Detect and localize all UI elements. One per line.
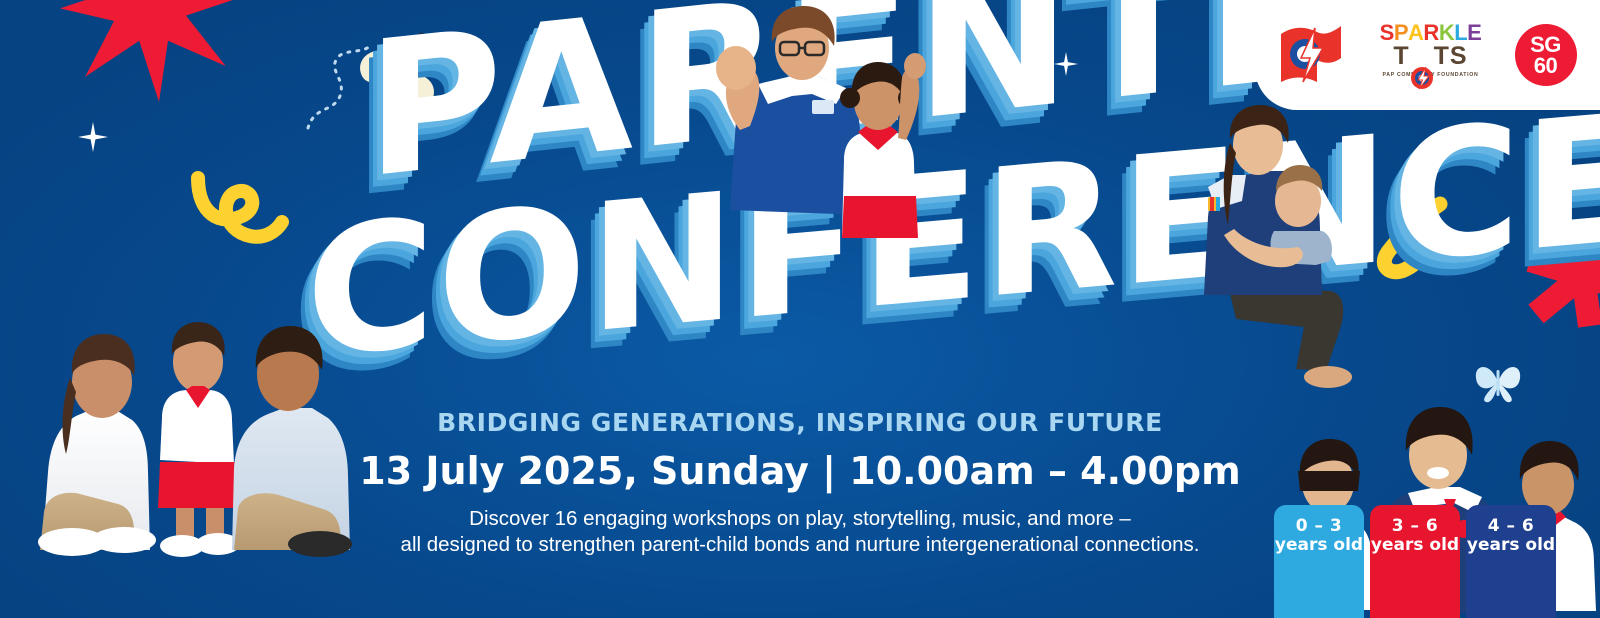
sg60-line1: SG (1530, 34, 1561, 55)
age-card-range: 0 – 3 (1274, 517, 1364, 536)
event-description-line1: Discover 16 engaging workshops on play, … (469, 507, 1131, 530)
logo-panel: SPARKLE T TS PAP COMMUNITY FOUNDATION (1255, 0, 1600, 110)
pcf-logo (1279, 24, 1347, 86)
age-card-unit: years old (1274, 536, 1364, 555)
age-card-range: 4 – 6 (1466, 517, 1556, 536)
age-card-0-3[interactable]: 0 – 3 years old (1274, 505, 1364, 618)
event-datetime: 13 July 2025, Sunday | 10.00am – 4.00pm (0, 449, 1600, 493)
age-card-4-6[interactable]: 4 – 6 years old (1466, 505, 1556, 618)
photo-teacher-baby-right (1180, 105, 1365, 405)
parenting-conference-banner: PARENTING PARENTING PARENTING PARENTING … (0, 0, 1600, 618)
sparkletots-logo: SPARKLE T TS PAP COMMUNITY FOUNDATION (1377, 22, 1485, 88)
event-tagline: BRIDGING GENERATIONS, INSPIRING OUR FUTU… (0, 408, 1600, 437)
event-description-line2: all designed to strengthen parent-child … (401, 533, 1200, 556)
age-card-unit: years old (1466, 536, 1556, 555)
sg60-logo: SG 60 (1515, 24, 1577, 86)
photo-teacher-child-top (700, 0, 930, 240)
sparkletots-word1: SPARKLE (1377, 22, 1485, 44)
sg60-line2: 60 (1534, 55, 1557, 76)
sparkletots-word2: T TS (1377, 44, 1485, 69)
age-group-cards: 0 – 3 years old 3 – 6 years old 4 – 6 ye… (1274, 505, 1556, 618)
age-card-unit: years old (1370, 536, 1460, 555)
age-card-3-6[interactable]: 3 – 6 years old (1370, 505, 1460, 618)
age-card-range: 3 – 6 (1370, 517, 1460, 536)
